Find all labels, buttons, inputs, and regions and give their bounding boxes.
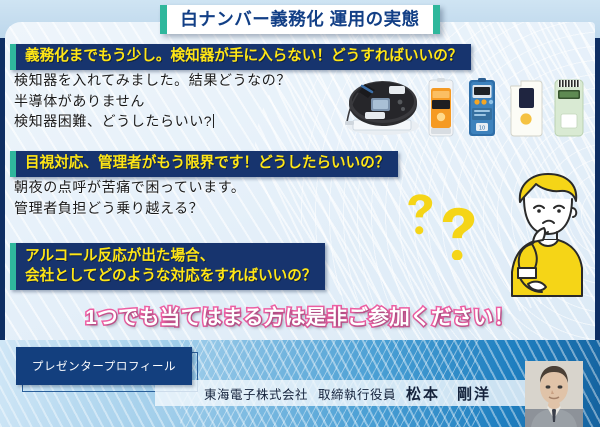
- desktop-alcohol-detector-icon: [345, 81, 419, 135]
- svg-text:10: 10: [479, 126, 485, 132]
- orange-handheld-detector-icon: [429, 78, 453, 136]
- body-block-1: 検知器を入れてみました。結果どうなの？ 半導体がありません 検知器困難、どうした…: [14, 70, 291, 132]
- headline-banner-3: アルコール反応が出た場合、 会社としてどのような対応をすればいいの？: [10, 243, 325, 290]
- headline-line: アルコール反応が出た場合、: [25, 246, 316, 266]
- headline-banner-1: 義務化までもう少し。検知器が手に入らない！どうすればいいの？: [10, 44, 471, 70]
- presenter-profile-label-text: プレゼンタープロフィール: [32, 358, 176, 374]
- question-mark-icon: [408, 194, 474, 260]
- headline-banner-2: 目視対応、管理者がもう限界です！どうしたらいいの？: [10, 151, 398, 177]
- slide-title-chip: 白ナンバー義務化 運用の実態: [160, 5, 439, 34]
- headline-text-1: 義務化までもう少し。検知器が手に入らない！どうすればいいの？: [16, 44, 471, 70]
- title-accent-bar-right: [433, 5, 440, 34]
- detector-device-row: 10: [345, 76, 593, 140]
- thinking-person-illustration: [498, 168, 594, 305]
- body-line-with-caret: 検知器困難、どうしたらいい?: [14, 111, 291, 132]
- green-handheld-detector-icon: [555, 80, 583, 136]
- presenter-profile-label: プレゼンタープロフィール: [16, 347, 192, 385]
- presenter-portrait-photo: [525, 361, 583, 427]
- white-handheld-detector-icon: [511, 81, 542, 136]
- presenter-name: 松本 剛洋: [406, 383, 491, 404]
- body-line: 管理者負担どう乗り越える？: [14, 198, 246, 219]
- blue-handheld-detector-icon: 10: [469, 78, 495, 136]
- presenter-details: 東海電子株式会社 取締執行役員 松本 剛洋: [204, 380, 491, 406]
- call-to-action-text: 1つでも当てはまる方は是非ご参加ください！: [85, 306, 514, 329]
- presenter-role: 取締執行役員: [318, 384, 396, 403]
- headline-line: 会社としてどのような対応をすればいいの？: [25, 266, 316, 286]
- page-title: 白ナンバー義務化 運用の実態: [167, 5, 432, 34]
- slide-canvas: 白ナンバー義務化 運用の実態 義務化までもう少し。検知器が手に入らない！どうすれ…: [0, 0, 600, 427]
- body-block-2: 朝夜の点呼が苦痛で困っています。 管理者負担どう乗り越える？: [14, 177, 246, 218]
- call-to-action: 1つでも当てはまる方は是非ご参加ください！: [0, 300, 600, 330]
- headline-text-3: アルコール反応が出た場合、 会社としてどのような対応をすればいいの？: [16, 243, 325, 290]
- thinking-person-icon: [498, 168, 594, 300]
- body-line: 検知器を入れてみました。結果どうなの？: [14, 70, 291, 91]
- question-marks-illustration: [405, 188, 491, 265]
- body-line: 朝夜の点呼が苦痛で困っています。: [14, 177, 246, 198]
- presenter-company: 東海電子株式会社: [204, 384, 308, 403]
- text-caret: [213, 114, 214, 128]
- slide-title-wrap: 白ナンバー義務化 運用の実態: [0, 4, 600, 34]
- headline-text-2: 目視対応、管理者がもう限界です！どうしたらいいの？: [16, 151, 398, 177]
- title-accent-bar-left: [160, 5, 167, 34]
- footer-band: プレゼンタープロフィール 東海電子株式会社 取締執行役員 松本 剛洋: [0, 340, 600, 427]
- body-line: 検知器困難、どうしたらいい?: [14, 113, 212, 129]
- body-line: 半導体がありません: [14, 91, 291, 112]
